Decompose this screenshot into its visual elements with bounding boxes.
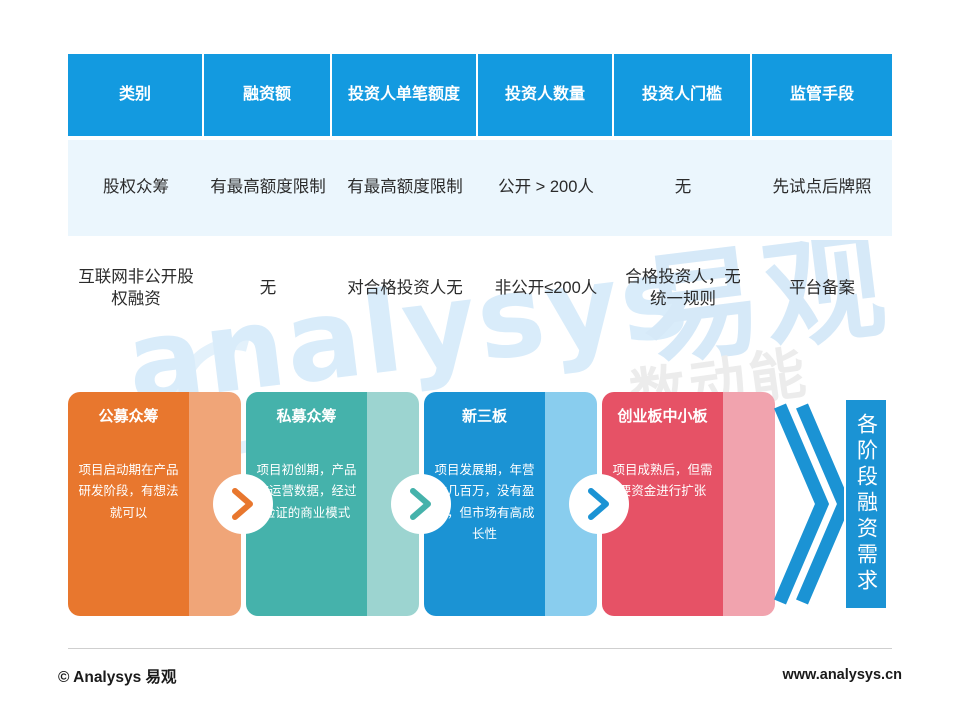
double-chevron-right-icon: [774, 396, 844, 617]
table-header-cell-regulation: 监管手段: [752, 54, 892, 136]
table-cell-r1-investor-threshold: 合格投资人，无统一规则: [614, 240, 752, 338]
table-cell-r1-funding-amount: 无: [204, 240, 332, 338]
slide-canvas: analysys 易观 数动能 类别 融资额 投资人单笔额度 投资人数量 投资人…: [0, 0, 960, 720]
flow-chevron-right-icon: [213, 474, 273, 534]
table-header-cell-funding-amount: 融资额: [204, 54, 332, 136]
comparison-table: 类别 融资额 投资人单笔额度 投资人数量 投资人门槛 监管手段 股权众筹 有最高…: [68, 54, 892, 338]
table-cell-r0-category: 股权众筹: [68, 140, 204, 236]
table-header-cell-per-investor-quota: 投资人单笔额度: [332, 54, 478, 136]
table-cell-r1-category: 互联网非公开股权融资: [68, 240, 204, 338]
flow-stage-description: 项目启动期在产品研发阶段，有想法就可以: [77, 460, 180, 525]
footer-website[interactable]: www.analysys.cn: [782, 667, 902, 683]
table-cell-r0-investor-threshold: 无: [614, 140, 752, 236]
flow-stage-title: 创业板中小板: [617, 408, 707, 426]
flow-stage-body: 公募众筹 项目启动期在产品研发阶段，有想法就可以: [68, 392, 189, 616]
table-row: 互联网非公开股权融资 无 对合格投资人无 非公开≤200人 合格投资人，无统一规…: [68, 240, 892, 338]
flow-final-summary: 各阶段融资需求: [774, 392, 892, 616]
flow-final-label: 各阶段融资需求: [856, 413, 877, 595]
process-flow: 公募众筹 项目启动期在产品研发阶段，有想法就可以 私募众筹 项目初创期，产品有运…: [68, 392, 892, 618]
table-cell-r1-per-investor-quota: 对合格投资人无: [332, 240, 478, 338]
table-cell-r1-regulation: 平台备案: [752, 240, 892, 338]
table-header-cell-investor-threshold: 投资人门槛: [614, 54, 752, 136]
footer-copyright: © Analysys 易观: [58, 665, 177, 687]
table-header-row: 类别 融资额 投资人单笔额度 投资人数量 投资人门槛 监管手段: [68, 54, 892, 136]
table-row: 股权众筹 有最高额度限制 有最高额度限制 公开 > 200人 无 先试点后牌照: [68, 140, 892, 236]
flow-stage-title: 私募众筹: [276, 408, 336, 426]
table-cell-r0-funding-amount: 有最高额度限制: [204, 140, 332, 236]
table-cell-r0-regulation: 先试点后牌照: [752, 140, 892, 236]
flow-stage-accent-strip: [723, 392, 775, 616]
table-cell-r0-per-investor-quota: 有最高额度限制: [332, 140, 478, 236]
table-cell-r0-investor-count: 公开 > 200人: [478, 140, 614, 236]
flow-chevron-right-icon: [569, 474, 629, 534]
flow-stage-title: 公募众筹: [98, 408, 158, 426]
flow-stage-title: 新三板: [462, 408, 507, 426]
table-header-cell-investor-count: 投资人数量: [478, 54, 614, 136]
footer-divider: [68, 648, 892, 649]
flow-chevron-right-icon: [391, 474, 451, 534]
flow-final-label-bar: 各阶段融资需求: [846, 400, 886, 608]
table-header-cell-category: 类别: [68, 54, 204, 136]
table-cell-r1-investor-count: 非公开≤200人: [478, 240, 614, 338]
